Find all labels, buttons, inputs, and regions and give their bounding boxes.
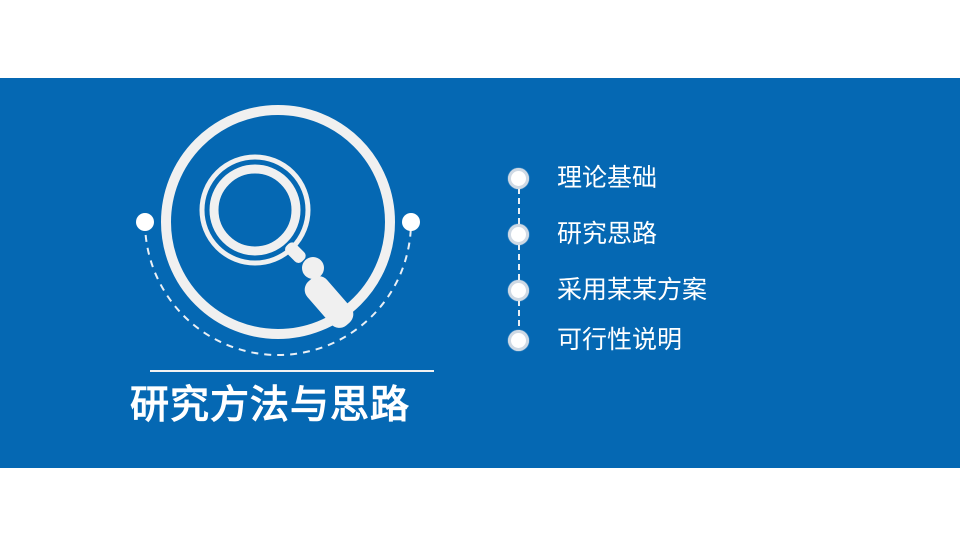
arc-node-left	[136, 213, 154, 231]
bullet-dot-icon	[508, 224, 529, 245]
handle-joint	[302, 257, 324, 279]
arc-node-right	[402, 213, 420, 231]
list-item[interactable]: 研究思路	[498, 206, 858, 262]
bullet-dot-icon	[508, 330, 529, 351]
page-title: 研究方法与思路	[130, 386, 470, 427]
list-item-label: 可行性说明	[540, 328, 682, 353]
list-item-label: 采用某某方案	[540, 278, 707, 303]
list-item[interactable]: 可行性说明	[498, 318, 858, 362]
title-block: 研究方法与思路	[130, 370, 470, 427]
bullet-dot-icon	[508, 280, 529, 301]
bullet-dot-icon	[508, 168, 529, 189]
slide-canvas: 研究方法与思路 理论基础 研究思路 采用某某方案	[0, 0, 960, 540]
outer-ring	[166, 110, 390, 334]
magnifier-in-circle-icon	[120, 88, 440, 378]
list-item-label: 研究思路	[540, 222, 657, 247]
list-item[interactable]: 采用某某方案	[498, 262, 858, 318]
list-item-label: 理论基础	[540, 166, 657, 191]
title-divider-rule	[150, 370, 434, 372]
list-item[interactable]: 理论基础	[498, 150, 858, 206]
bullet-list: 理论基础 研究思路 采用某某方案 可行性说明	[498, 150, 858, 362]
lens-inner-ring	[214, 169, 296, 251]
lens-handle-connector	[283, 240, 308, 265]
bullet-marker	[498, 150, 540, 206]
